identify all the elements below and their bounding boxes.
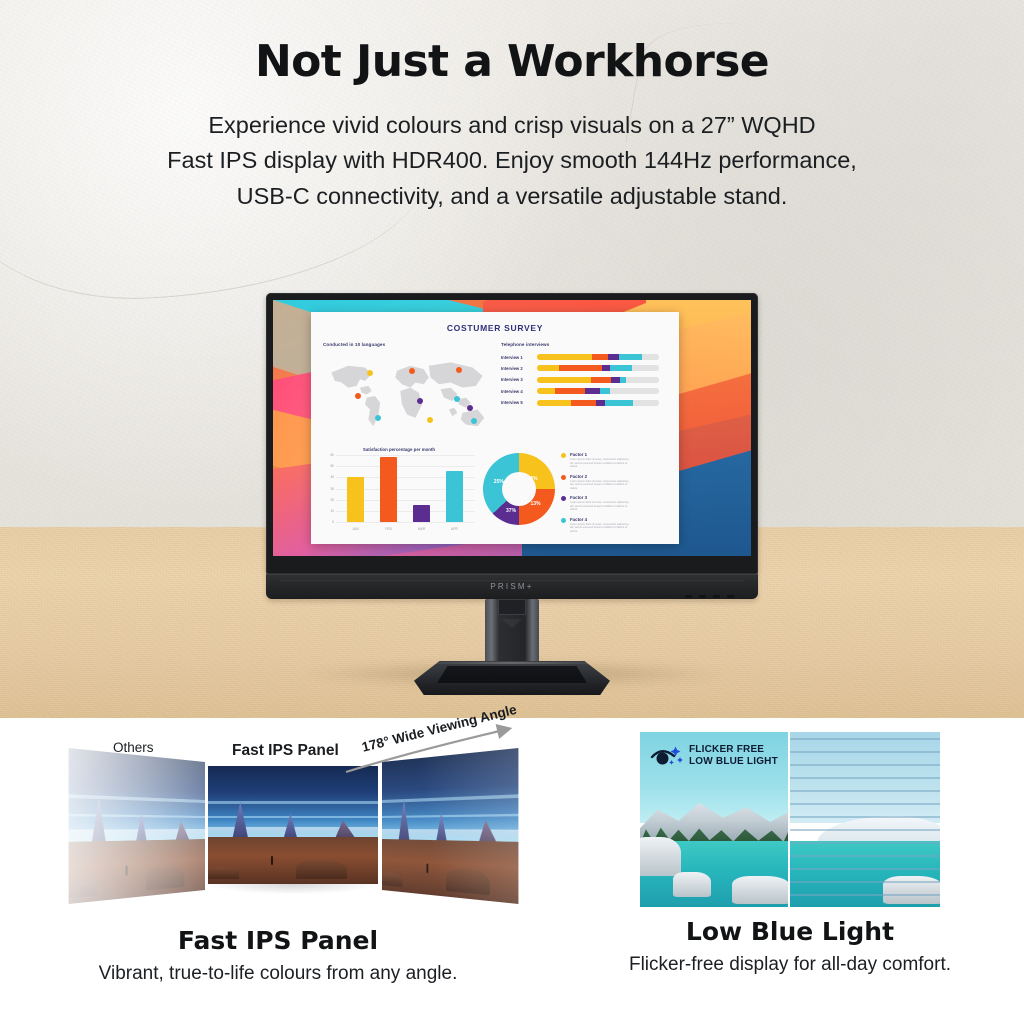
legend-swatch <box>561 518 566 523</box>
stacked-bar-track <box>537 354 659 360</box>
legend-description: Lorem ipsum dolor sit amet, consectetur … <box>570 501 632 512</box>
badge-line-1: FLICKER FREE <box>689 744 778 756</box>
flicker-line <box>790 842 940 844</box>
scene-rock <box>208 867 239 879</box>
stand-base-highlight <box>418 662 606 664</box>
legend-item: Factor 1Lorem ipsum dolor sit amet, cons… <box>561 452 667 469</box>
map-dot <box>427 417 433 423</box>
legend-label: Factor 1 <box>570 452 632 457</box>
flicker-line <box>790 855 940 857</box>
monitor-button[interactable] <box>713 595 720 598</box>
legend-label: Factor 4 <box>570 517 632 522</box>
stacked-bar-segment <box>555 388 584 394</box>
map-dot <box>454 396 460 402</box>
bar <box>446 471 463 522</box>
satisfaction-bar-chart: Satisfaction percentage per month 605040… <box>323 447 475 538</box>
product-feature-page: Not Just a Workhorse Experience vivid co… <box>0 0 1024 1024</box>
flicker-line <box>790 751 940 753</box>
features-section: Others Fast IPS Panel 178° Wide Viewing … <box>0 718 1024 1024</box>
donut-value-label: 25% <box>528 476 538 482</box>
scene-sky-band <box>208 816 378 818</box>
y-axis-tick: 60 <box>323 453 334 457</box>
donut-value-label: 13% <box>531 501 541 507</box>
x-axis-tick: JAN <box>347 527 364 531</box>
stand-base-inner <box>437 666 587 683</box>
grid-line <box>336 522 475 523</box>
blue-caption: Flicker-free display for all-day comfort… <box>556 954 1024 976</box>
y-axis-tick: 10 <box>323 509 334 513</box>
blue-heading: Low Blue Light <box>556 917 1024 946</box>
monitor-button[interactable] <box>685 595 692 598</box>
stacked-bar-segment <box>571 400 595 406</box>
lake-rock <box>883 876 940 904</box>
stacked-bar-segment <box>626 377 659 383</box>
monitor-product-image: COSTUMER SURVEY Conducted in 10 language… <box>266 293 758 599</box>
x-axis-labels: JANFEBMARAPR <box>339 527 471 531</box>
stacked-bar-segment <box>610 388 659 394</box>
legend-description: Lorem ipsum dolor sit amet, consectetur … <box>570 480 632 491</box>
stacked-bar-segment <box>605 400 633 406</box>
legend-item: Factor 4Lorem ipsum dolor sit amet, cons… <box>561 517 667 534</box>
stacked-bar-segment <box>559 365 602 371</box>
map-dot <box>367 370 373 376</box>
monitor-bezel: PRISM+ <box>266 574 758 599</box>
feature-low-blue-light: FLICKER FREE LOW BLUE LIGHT Low Blue Lig… <box>556 718 1024 976</box>
badge-text: FLICKER FREE LOW BLUE LIGHT <box>689 744 778 768</box>
page-title: Not Just a Workhorse <box>0 38 1024 86</box>
world-map-icon <box>323 353 491 439</box>
stacked-bar-label: Interview 4 <box>501 389 537 394</box>
stand-cable-slot <box>498 599 526 615</box>
flicker-line <box>790 764 940 766</box>
stacked-bar-segment <box>537 400 571 406</box>
stacked-bar-row: Interview 1 <box>501 354 659 360</box>
stacked-bar-segment <box>633 400 659 406</box>
stand-chevron-icon <box>502 619 522 628</box>
stacked-bar-segment <box>537 377 591 383</box>
y-axis-tick: 50 <box>323 464 334 468</box>
stacked-bar-segment <box>596 400 606 406</box>
slide-title: COSTUMER SURVEY <box>311 323 679 333</box>
y-axis-tick: 40 <box>323 475 334 479</box>
stacked-bar-track <box>537 365 659 371</box>
stacked-bar-row: Interview 3 <box>501 377 659 383</box>
subcopy-line-3: USB-C connectivity, and a versatile adju… <box>47 179 977 215</box>
stacked-bar-label: Interview 1 <box>501 355 537 360</box>
monitor-button[interactable] <box>699 595 706 598</box>
flicker-line <box>790 829 940 831</box>
stacked-bar-row: Interview 2 <box>501 365 659 371</box>
lake-rock <box>732 876 788 904</box>
stacked-bar-label: Interview 5 <box>501 400 537 405</box>
monitor-control-buttons[interactable] <box>685 595 734 598</box>
stacked-bar-segment <box>600 388 610 394</box>
ips-comparison-graphic: Others Fast IPS Panel 178° Wide Viewing … <box>0 726 556 916</box>
ips-caption-block: Fast IPS Panel Vibrant, true-to-life col… <box>0 926 556 985</box>
legend-swatch <box>561 496 566 501</box>
donut-legend: Factor 1Lorem ipsum dolor sit amet, cons… <box>561 452 667 538</box>
presentation-slide: COSTUMER SURVEY Conducted in 10 language… <box>311 312 679 544</box>
x-axis-tick: MAR <box>413 527 430 531</box>
x-axis-tick: FEB <box>380 527 397 531</box>
label-others: Others <box>113 740 154 755</box>
flicker-line <box>790 803 940 805</box>
stacked-bar-segment <box>537 354 592 360</box>
monitor-panel: COSTUMER SURVEY Conducted in 10 language… <box>266 293 758 574</box>
brand-logo: PRISM+ <box>490 582 533 591</box>
y-axis-tick: 20 <box>323 498 334 502</box>
stacked-bar-segment <box>632 365 659 371</box>
bezel-highlight <box>280 580 744 581</box>
y-axis-tick: 0 <box>323 520 334 524</box>
stacked-bar-track <box>537 400 659 406</box>
lake-rock <box>673 872 711 897</box>
scene-sky-band <box>208 801 378 804</box>
hero-subcopy: Experience vivid colours and crisp visua… <box>47 108 977 215</box>
stacked-bar-segment <box>608 354 619 360</box>
legend-description: Lorem ipsum dolor sit amet, consectetur … <box>570 523 632 534</box>
flicker-line <box>790 777 940 779</box>
map-dot <box>456 367 462 373</box>
stacked-bar-segment <box>592 354 608 360</box>
scene-rock <box>296 860 347 879</box>
bar-chart-title: Satisfaction percentage per month <box>323 447 475 452</box>
donut-wrapper: 25% 25% 13% 37% <box>483 453 555 525</box>
legend-item: Factor 2Lorem ipsum dolor sit amet, cons… <box>561 474 667 491</box>
panel-fast-ips <box>208 766 378 884</box>
flicker-line <box>790 868 940 870</box>
flicker-line <box>790 894 940 896</box>
ips-heading: Fast IPS Panel <box>0 926 556 955</box>
stacked-bar-row: Interview 4 <box>501 388 659 394</box>
scene-figure <box>271 856 273 865</box>
panel-shadow <box>208 884 378 894</box>
stacked-bar-chart: Interview 1Interview 2Interview 3Intervi… <box>501 354 659 406</box>
badge-line-2: LOW BLUE LIGHT <box>689 756 778 768</box>
bar-chart-plot: 6050403020100JANFEBMARAPR <box>323 455 475 531</box>
telephone-interviews-section: Telephone interviews Interview 1Intervie… <box>501 342 659 439</box>
bar <box>347 477 364 522</box>
flicker-line <box>790 881 940 883</box>
washed-out-overlay <box>69 748 205 904</box>
ips-caption: Vibrant, true-to-life colours from any a… <box>0 963 556 985</box>
stacked-bar-track <box>537 377 659 383</box>
legend-swatch <box>561 475 566 480</box>
slide-row-top: Conducted in 10 languages <box>311 342 679 439</box>
stacked-bar-segment <box>537 388 555 394</box>
factor-donut-chart: 25% 25% 13% 37% Factor 1Lorem ipsum dolo… <box>483 447 667 538</box>
monitor-power-button[interactable] <box>727 595 734 598</box>
stacked-bar-segment <box>537 365 559 371</box>
x-axis-tick: APR <box>446 527 463 531</box>
y-axis-tick: 30 <box>323 487 334 491</box>
flicker-free-badge: FLICKER FREE LOW BLUE LIGHT <box>650 744 778 768</box>
slide-row-bottom: Satisfaction percentage per month 605040… <box>311 447 679 538</box>
stacked-bar-label: Interview 3 <box>501 377 537 382</box>
blue-caption-block: Low Blue Light Flicker-free display for … <box>556 917 1024 976</box>
legend-item: Factor 3Lorem ipsum dolor sit amet, cons… <box>561 495 667 512</box>
map-dot <box>375 415 381 421</box>
eye-icon <box>650 744 684 768</box>
legend-label: Factor 2 <box>570 474 632 479</box>
label-fast-ips-panel: Fast IPS Panel <box>232 742 339 760</box>
stacked-bar-segment <box>642 354 659 360</box>
world-map <box>323 353 491 439</box>
sparkle-icon <box>669 760 674 765</box>
map-dot <box>417 398 423 404</box>
landscape-scene <box>208 766 378 884</box>
legend-swatch <box>561 453 566 458</box>
feature-fast-ips-panel: Others Fast IPS Panel 178° Wide Viewing … <box>0 718 556 985</box>
stacked-bar-segment <box>619 354 642 360</box>
low-blue-light-graphic: FLICKER FREE LOW BLUE LIGHT <box>640 732 940 907</box>
map-dot <box>409 368 415 374</box>
donut-value-label: 25% <box>494 479 504 485</box>
stacked-bar-segment <box>591 377 612 383</box>
sparkle-icon <box>677 757 683 763</box>
stacked-bar-segment <box>602 365 611 371</box>
hero-copy: Not Just a Workhorse Experience vivid co… <box>0 0 1024 215</box>
stacked-bar-segment <box>610 365 632 371</box>
flicker-line <box>790 738 940 740</box>
stacked-bar-segment <box>611 377 620 383</box>
stacked-bar-label: Interview 2 <box>501 366 537 371</box>
subcopy-line-2: Fast IPS display with HDR400. Enjoy smoo… <box>47 143 977 179</box>
bar <box>413 505 430 522</box>
telephone-section-label: Telephone interviews <box>501 342 659 347</box>
stacked-bar-track <box>537 388 659 394</box>
map-section-label: Conducted in 10 languages <box>323 342 491 347</box>
stacked-bar-segment <box>585 388 601 394</box>
monitor-screen: COSTUMER SURVEY Conducted in 10 language… <box>273 300 751 556</box>
flicker-line <box>790 816 940 818</box>
lake-photo-flicker <box>790 732 940 907</box>
bar <box>380 457 397 522</box>
stacked-bar-row: Interview 5 <box>501 400 659 406</box>
bar-group <box>339 455 471 522</box>
lake-rock <box>640 837 681 876</box>
hero-section: Not Just a Workhorse Experience vivid co… <box>0 0 1024 718</box>
legend-label: Factor 3 <box>570 495 632 500</box>
donut-value-label: 37% <box>506 508 516 514</box>
legend-description: Lorem ipsum dolor sit amet, consectetur … <box>570 458 632 469</box>
panel-others <box>69 748 205 904</box>
flicker-line <box>790 790 940 792</box>
map-section: Conducted in 10 languages <box>323 342 491 439</box>
subcopy-line-1: Experience vivid colours and crisp visua… <box>47 108 977 144</box>
